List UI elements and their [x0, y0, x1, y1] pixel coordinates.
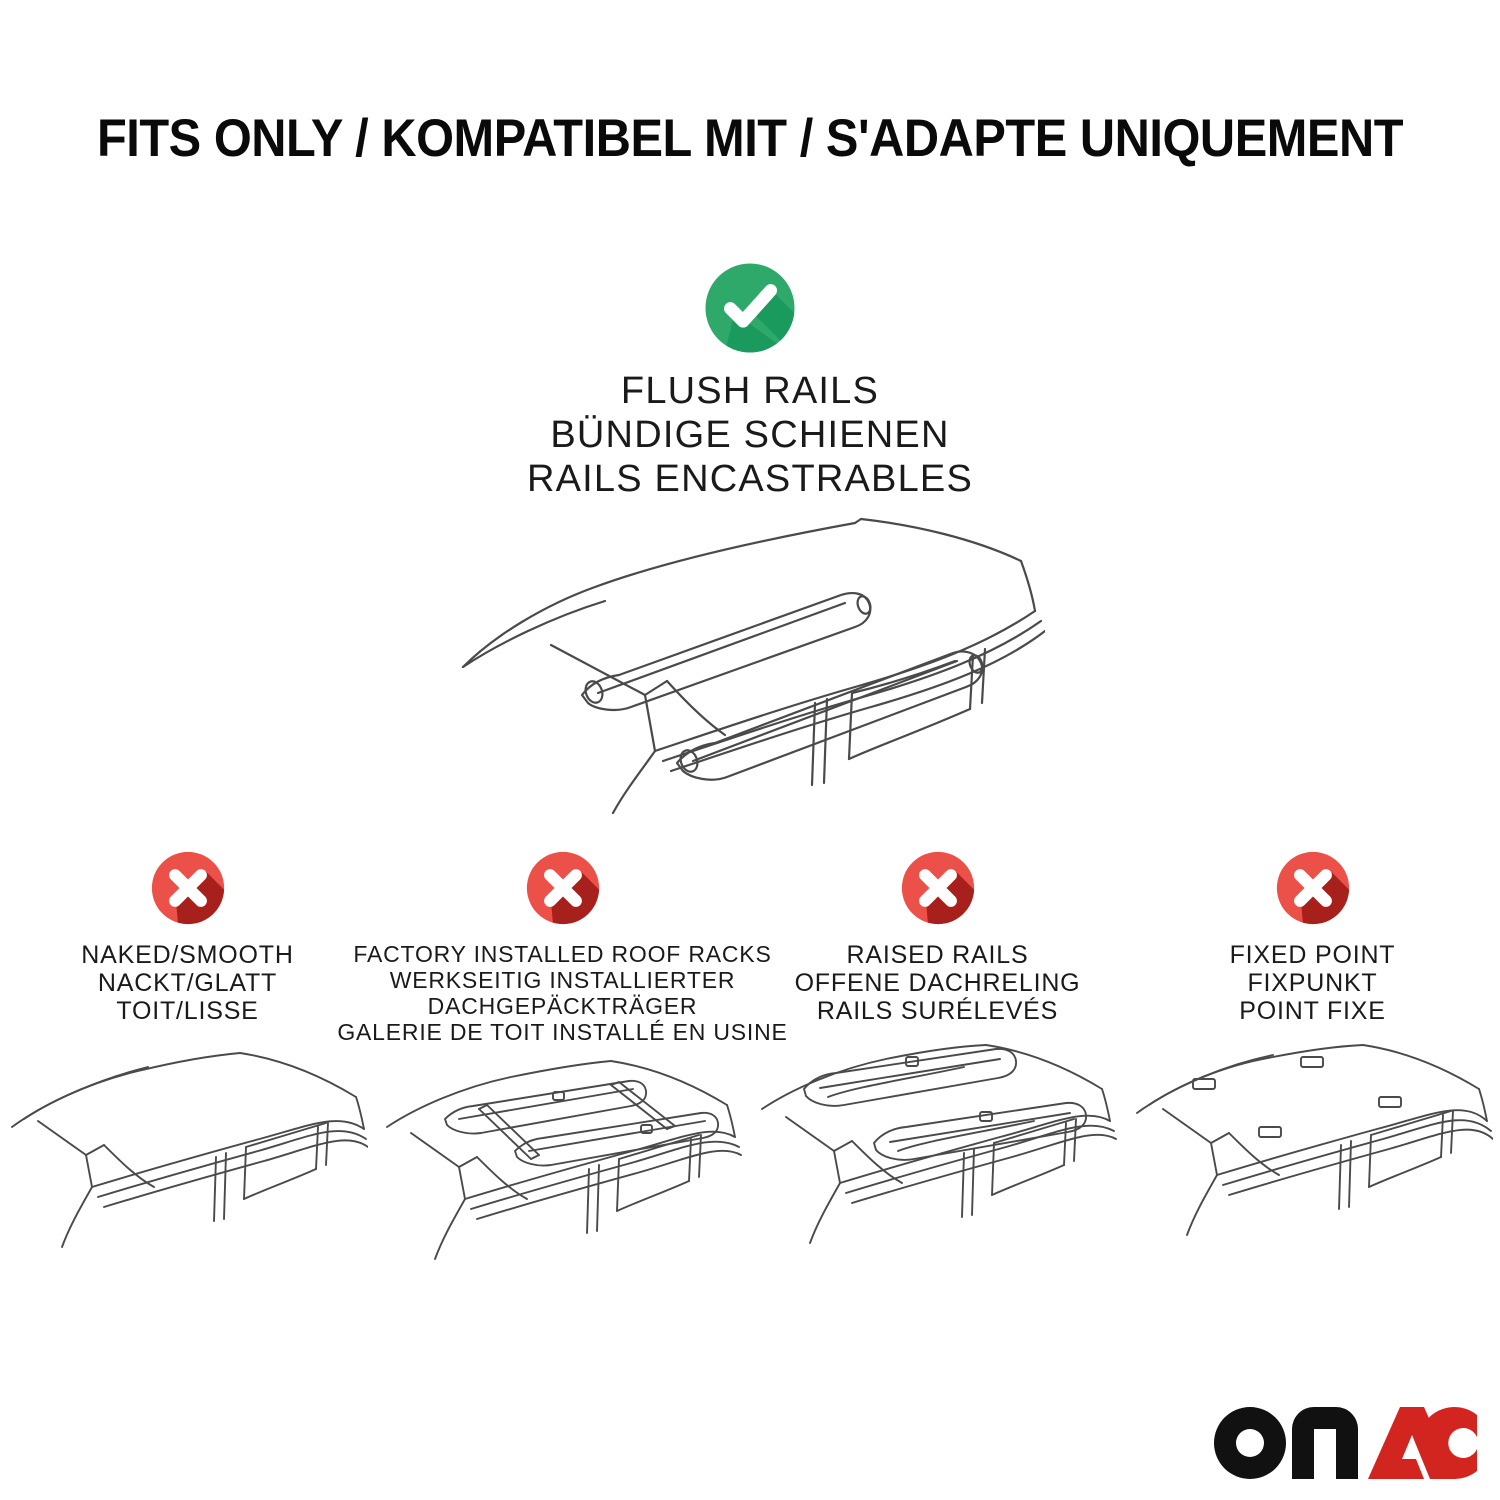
incompatible-label-3: RAISED RAILS OFFENE DACHRELING RAILS SUR…	[795, 941, 1081, 1025]
cross-circle-icon	[520, 845, 606, 931]
label-line-de: FIXPUNKT	[1230, 969, 1396, 997]
incompatible-badge-wrap-4	[1270, 845, 1356, 931]
car-roof-factory-roof-racks-illustration	[383, 1055, 743, 1285]
label-line-fr: RAILS SURÉLEVÉS	[795, 997, 1081, 1025]
incompatible-item-factory-roof-racks: FACTORY INSTALLED ROOF RACKS WERKSEITIG …	[375, 845, 750, 1285]
omac-logo	[1212, 1405, 1477, 1483]
cross-circle-icon	[895, 845, 981, 931]
label-line-fr: POINT FIXE	[1230, 997, 1396, 1025]
car-roof-fixed-point-illustration	[1133, 1035, 1493, 1265]
car-roof-raised-rails-illustration	[758, 1035, 1118, 1265]
compatible-label-line-de: BÜNDIGE SCHIENEN	[0, 413, 1500, 457]
incompatible-section: NAKED/SMOOTH NACKT/GLATT TOIT/LISSE	[0, 845, 1500, 1285]
label-line-en: FIXED POINT	[1230, 941, 1396, 969]
label-line-en: FACTORY INSTALLED ROOF RACKS	[337, 941, 787, 967]
label-line-en: RAISED RAILS	[795, 941, 1081, 969]
label-line-de: NACKT/GLATT	[81, 969, 293, 997]
incompatible-item-fixed-point: FIXED POINT FIXPUNKT POINT FIXE	[1125, 845, 1500, 1285]
incompatible-label-1: NAKED/SMOOTH NACKT/GLATT TOIT/LISSE	[81, 941, 293, 1025]
incompatible-item-naked-smooth: NAKED/SMOOTH NACKT/GLATT TOIT/LISSE	[0, 845, 375, 1285]
compatible-label: FLUSH RAILS BÜNDIGE SCHIENEN RAILS ENCAS…	[0, 369, 1500, 501]
incompatible-badge-wrap-1	[145, 845, 231, 931]
incompatible-badge-wrap-3	[895, 845, 981, 931]
label-line-de-1: WERKSEITIG INSTALLIERTER	[337, 967, 787, 993]
check-circle-icon	[697, 255, 803, 361]
label-line-en: NAKED/SMOOTH	[81, 941, 293, 969]
compatible-section: FLUSH RAILS BÜNDIGE SCHIENEN RAILS ENCAS…	[0, 255, 1500, 501]
car-roof-flush-rails-illustration	[455, 495, 1045, 815]
incompatible-label-4: FIXED POINT FIXPUNKT POINT FIXE	[1230, 941, 1396, 1025]
car-roof-naked-smooth-illustration	[8, 1035, 368, 1265]
compatible-badge-wrap	[0, 255, 1500, 361]
cross-circle-icon	[1270, 845, 1356, 931]
label-line-fr: TOIT/LISSE	[81, 997, 293, 1025]
compatible-label-line-en: FLUSH RAILS	[0, 369, 1500, 413]
label-line-de-2: DACHGEPÄCKTRÄGER	[337, 993, 787, 1019]
incompatible-label-2: FACTORY INSTALLED ROOF RACKS WERKSEITIG …	[337, 941, 787, 1045]
cross-circle-icon	[145, 845, 231, 931]
incompatible-item-raised-rails: RAISED RAILS OFFENE DACHRELING RAILS SUR…	[750, 845, 1125, 1285]
page-title: FITS ONLY / KOMPATIBEL MIT / S'ADAPTE UN…	[60, 108, 1440, 169]
label-line-fr: GALERIE DE TOIT INSTALLÉ EN USINE	[337, 1019, 787, 1045]
label-line-de: OFFENE DACHRELING	[795, 969, 1081, 997]
incompatible-badge-wrap-2	[520, 845, 606, 931]
